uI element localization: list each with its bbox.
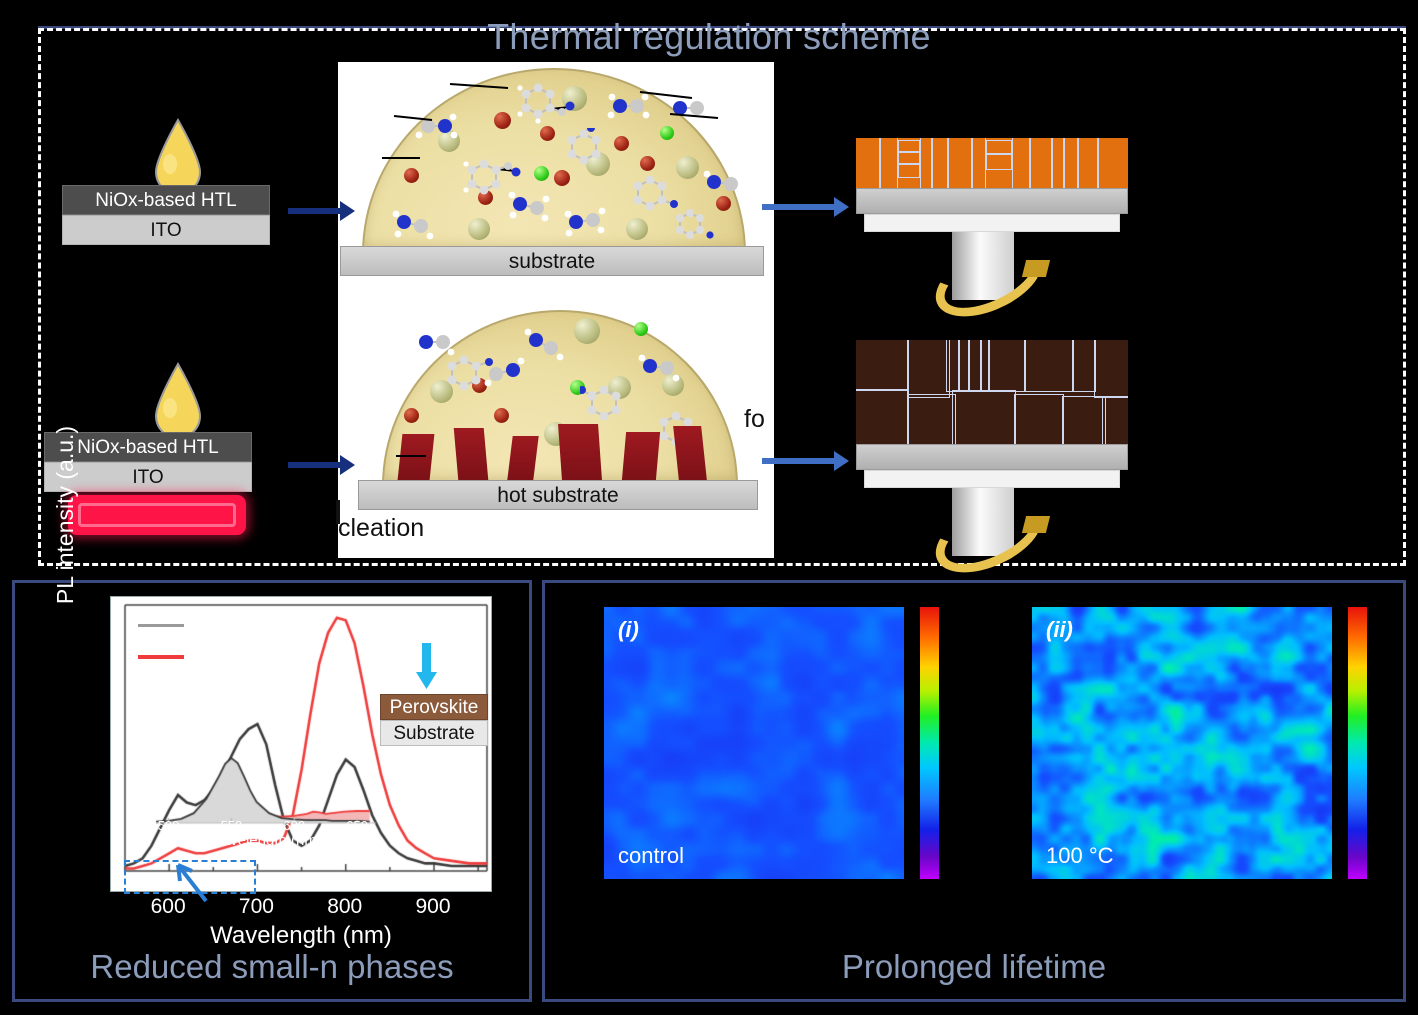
legend-label-control: control	[192, 613, 249, 635]
peak-label-n-3: n = 3	[256, 698, 294, 718]
peak-label-n-infinity: n = ∞	[366, 602, 407, 622]
pl-map-100c-tag: (ii)	[1046, 617, 1073, 643]
scheme-title: Thermal regulation scheme	[0, 16, 1418, 58]
pl-y-axis-label: PL intensity (a.u.)	[52, 400, 79, 630]
pl-map-100c-colorbar	[1348, 607, 1367, 879]
scheme-white-stage-edge	[762, 62, 774, 558]
perovskite-film-hot	[856, 340, 1128, 444]
pl-map-control-canvas	[604, 607, 904, 879]
pl-map-control-tag: (i)	[618, 617, 639, 643]
arrow-droplet-to-film-control	[762, 204, 836, 210]
nucleation-text-fragment: cleation	[338, 514, 424, 543]
ito-layer-label: ITO	[62, 215, 270, 245]
legend-swatch-100c	[138, 655, 184, 659]
inset-region-marker	[124, 860, 256, 894]
inset-x-tick-label: 650	[339, 818, 375, 833]
arrow-hot-to-droplet	[288, 462, 342, 468]
pl-x-tick-label: 700	[234, 895, 278, 919]
rotation-arrow-head-control	[1022, 260, 1050, 277]
material-box-perovskite: Perovskite	[380, 694, 488, 720]
pl-map-100c: (ii) 100 °C	[1032, 607, 1332, 879]
droplet-leader-lines	[362, 68, 742, 250]
inset-x-tick-label: 600	[276, 818, 312, 833]
maps-panel-caption: Prolonged lifetime	[542, 948, 1406, 986]
coater-substrate-control	[856, 188, 1128, 214]
cyan-down-arrow-icon	[416, 643, 438, 691]
coater-chuck-control	[864, 214, 1120, 232]
inset-x-axis-label: Wavelength (nm)	[150, 832, 380, 849]
hotplate-icon	[68, 495, 246, 535]
pl-panel-caption: Reduced small-n phases	[12, 948, 532, 986]
tick-divider	[336, 500, 340, 524]
inset-x-tick-label: 550	[213, 818, 249, 833]
precursor-droplet-icon-hot	[148, 362, 208, 442]
coater-chuck-hot	[864, 470, 1120, 488]
droplet-leader-lines-hot	[382, 310, 734, 482]
legend-swatch-control	[138, 624, 184, 627]
pl-x-tick-label: 800	[323, 895, 367, 919]
htl-layer-label: NiOx-based HTL	[62, 185, 270, 215]
substrate-bar-control: substrate	[340, 246, 764, 276]
pl-map-control: (i) control	[604, 607, 904, 879]
substrate-stack-control: NiOx-based HTL ITO	[62, 185, 270, 245]
pl-x-axis-label: Wavelength (nm)	[110, 922, 492, 950]
pl-map-control-colorbar	[920, 607, 939, 879]
substrate-bar-hot: hot substrate	[358, 480, 758, 510]
coater-substrate-hot	[856, 444, 1128, 470]
material-box-substrate: Substrate	[380, 720, 488, 746]
pl-map-control-label: control	[618, 843, 684, 869]
perovskite-film-control	[856, 138, 1128, 188]
pl-x-tick-label: 900	[411, 895, 455, 919]
pl-map-100c-canvas	[1032, 607, 1332, 879]
arrow-droplet-to-film-hot	[762, 458, 836, 464]
pl-map-100c-label: 100 °C	[1046, 843, 1114, 869]
inset-x-tick-label: 500	[151, 818, 187, 833]
legend-label-100c: 100 °C	[192, 644, 250, 666]
arrow-control-to-droplet	[288, 208, 342, 214]
rotation-arrow-head-hot	[1022, 516, 1050, 533]
formation-text-fragment: fo	[744, 405, 765, 434]
